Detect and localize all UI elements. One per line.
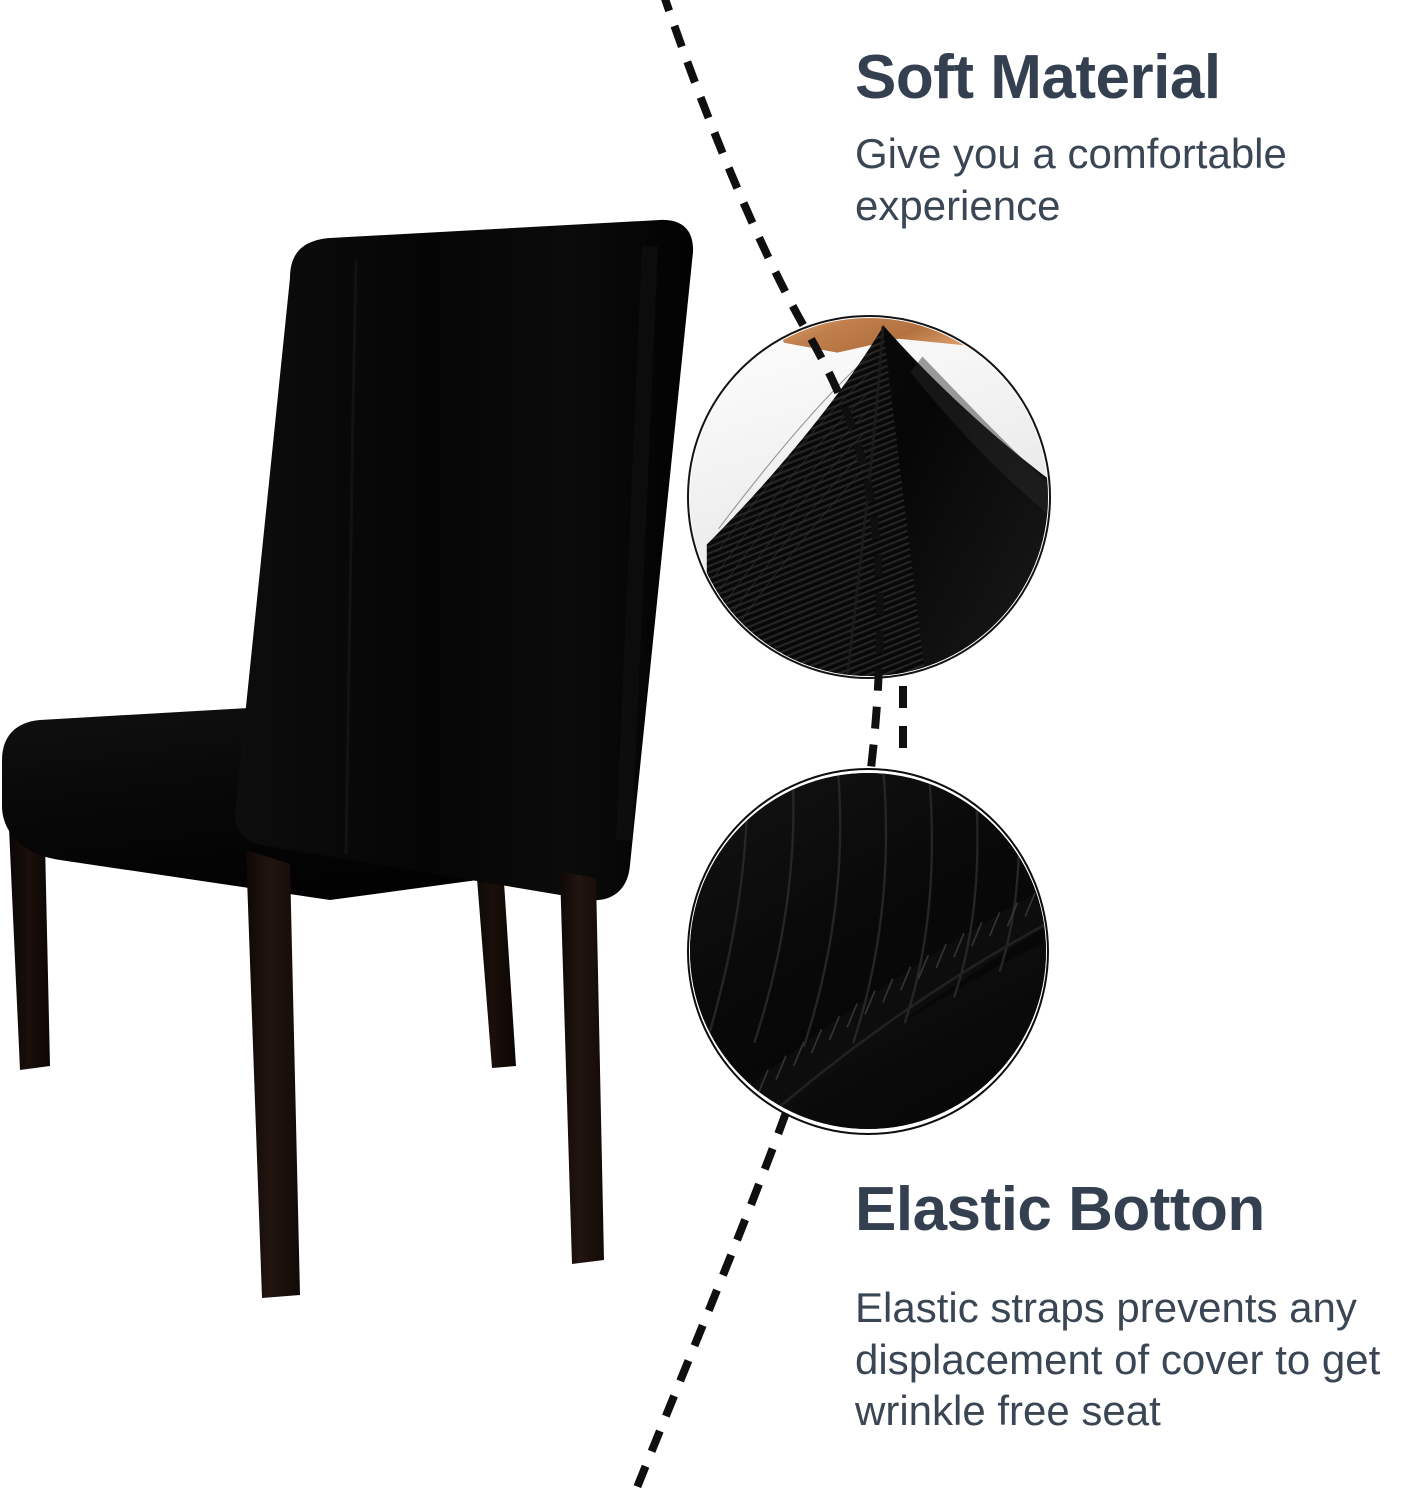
product-feature-infographic: Soft Material Give you a comfortable exp… [0,0,1427,1500]
chair-leg-front-left [246,850,300,1298]
product-photo-chair-with-cover [0,200,720,1330]
feature-block-soft-material: Soft Material Give you a comfortable exp… [855,46,1400,231]
feature-block-elastic-botton: Elastic Botton Elastic straps prevents a… [855,1178,1415,1436]
feature-heading-soft-material: Soft Material [855,46,1400,110]
feature-body-elastic-botton: Elastic straps prevents any displacement… [855,1282,1415,1436]
feature-heading-elastic-botton: Elastic Botton [855,1178,1415,1242]
detail-circle-elastic-band [687,768,1049,1135]
detail-circle-soft-fabric [687,315,1051,679]
chair-leg-front-right [560,872,604,1264]
feature-body-soft-material: Give you a comfortable experience [855,128,1400,230]
